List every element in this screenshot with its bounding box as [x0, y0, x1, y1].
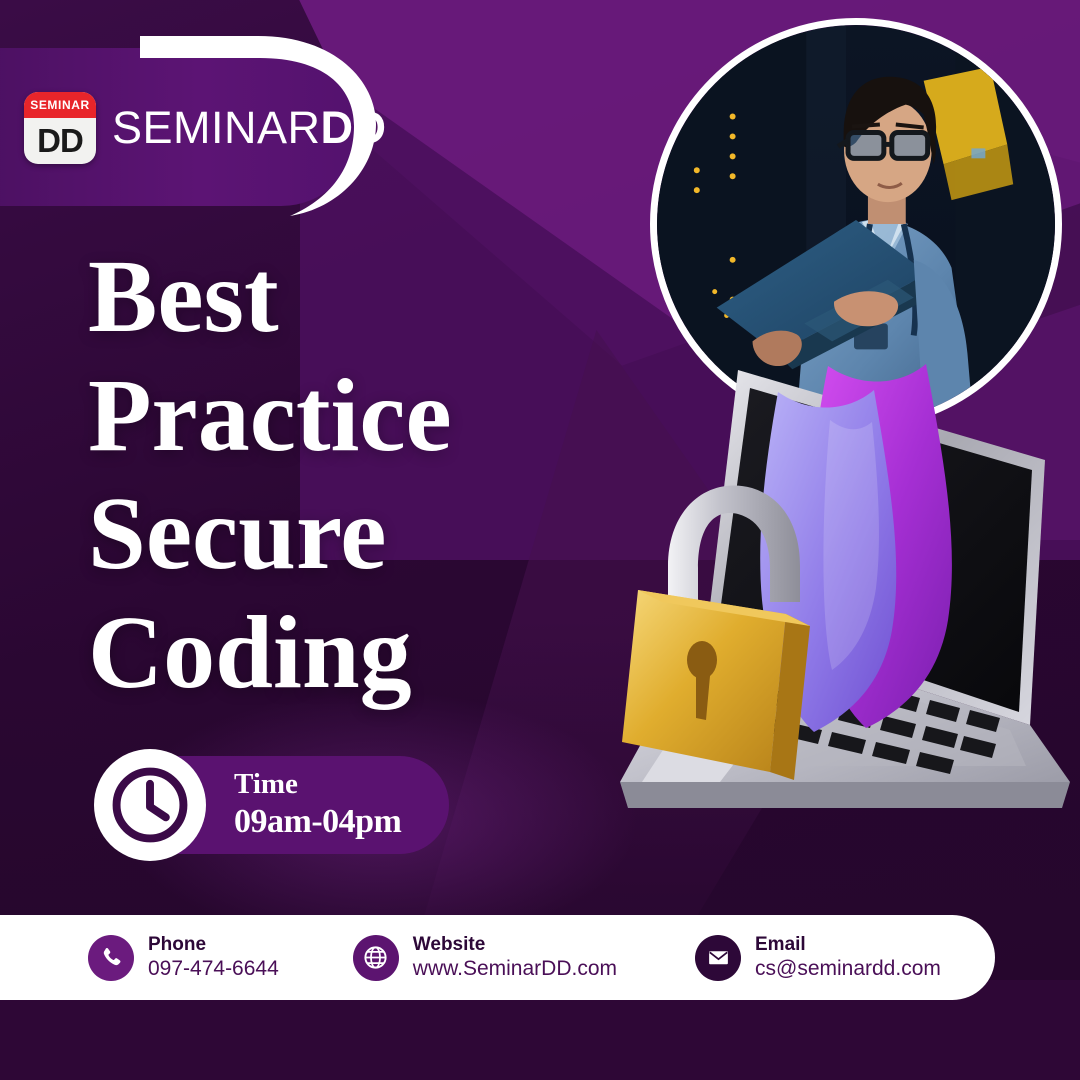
contact-website[interactable]: Website www.SeminarDD.com	[353, 933, 617, 982]
clock-icon-glyph	[106, 761, 194, 849]
globe-icon-glyph	[362, 944, 389, 971]
contact-phone-label: Phone	[148, 933, 279, 956]
wordmark-dd: DD	[321, 102, 387, 153]
envelope-icon	[695, 935, 741, 981]
contact-email-value: cs@seminardd.com	[755, 956, 941, 982]
phone-icon	[88, 935, 134, 981]
poster-canvas: SEMINAR DD SEMINARDD Best Practice Secur…	[0, 0, 1080, 1080]
contact-phone-text: Phone 097-474-6644	[148, 933, 279, 982]
envelope-icon-glyph	[706, 945, 731, 970]
brand-logo[interactable]: SEMINAR DD SEMINARDD	[24, 92, 387, 164]
contact-website-text: Website www.SeminarDD.com	[413, 933, 617, 982]
contact-website-label: Website	[413, 933, 617, 956]
wordmark-seminar: SEMINAR	[112, 102, 321, 153]
contact-website-value: www.SeminarDD.com	[413, 956, 617, 982]
contact-email-label: Email	[755, 933, 941, 956]
logo-badge-top-label: SEMINAR	[24, 92, 96, 118]
contact-phone-value: 097-474-6644	[148, 956, 279, 982]
contact-email[interactable]: Email cs@seminardd.com	[695, 933, 941, 982]
clock-icon	[94, 749, 206, 861]
time-label: Time	[234, 768, 401, 802]
time-text-block: Time 09am-04pm	[234, 768, 401, 841]
logo-badge-icon: SEMINAR DD	[24, 92, 96, 164]
contact-phone[interactable]: Phone 097-474-6644	[88, 933, 279, 982]
laptop-with-shield-and-padlock-illustration	[470, 330, 1080, 920]
contact-email-text: Email cs@seminardd.com	[755, 933, 941, 982]
logo-badge-initials: DD	[24, 118, 96, 164]
time-badge: Time 09am-04pm	[104, 756, 449, 854]
phone-icon-glyph	[99, 945, 124, 970]
brand-wordmark: SEMINARDD	[112, 102, 387, 154]
contact-footer-bar: Phone 097-474-6644 Website www.SeminarDD…	[0, 915, 995, 1000]
globe-icon	[353, 935, 399, 981]
time-value: 09am-04pm	[234, 802, 401, 841]
